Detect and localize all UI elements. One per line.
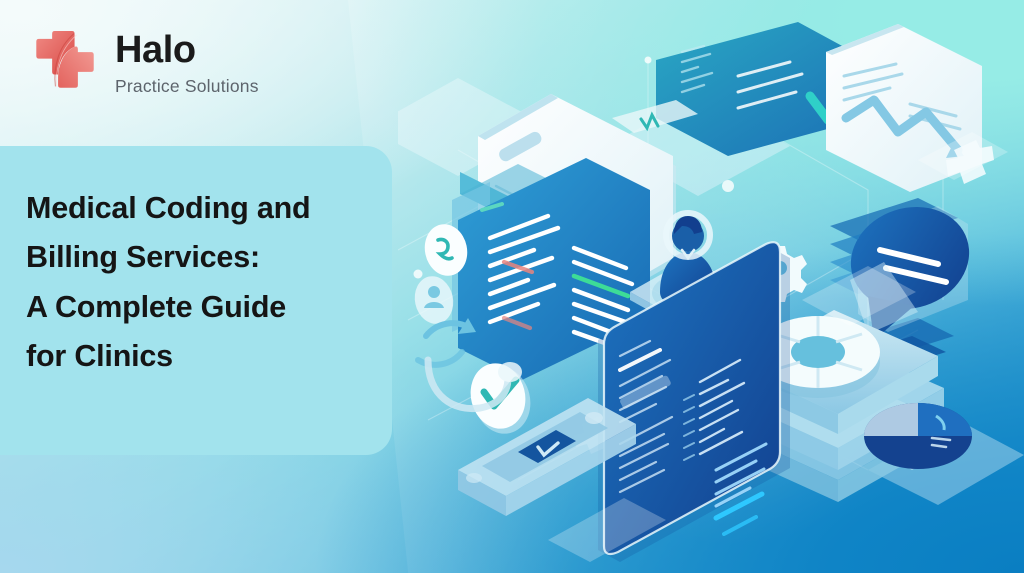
hero-banner: Medical Coding and Billing Services: A C… bbox=[0, 0, 1024, 573]
halo-cross-mark-icon bbox=[33, 27, 99, 93]
logo-wordmark: Halo bbox=[115, 31, 259, 69]
user-badge bbox=[410, 273, 457, 328]
page-title: Medical Coding and Billing Services: A C… bbox=[26, 184, 376, 382]
logo-tagline: Practice Solutions bbox=[115, 78, 259, 96]
brand-logo[interactable]: Halo Practice Solutions bbox=[33, 27, 259, 96]
headline-line-3: A Complete Guide bbox=[26, 283, 376, 332]
logo-text-block: Halo Practice Solutions bbox=[115, 27, 259, 96]
hero-illustration bbox=[398, 0, 1024, 573]
headline-line-1: Medical Coding and bbox=[26, 184, 376, 233]
headline-line-4: for Clinics bbox=[26, 332, 376, 381]
headline-line-2: Billing Services: bbox=[26, 233, 376, 282]
headline-panel: Medical Coding and Billing Services: A C… bbox=[0, 146, 392, 455]
